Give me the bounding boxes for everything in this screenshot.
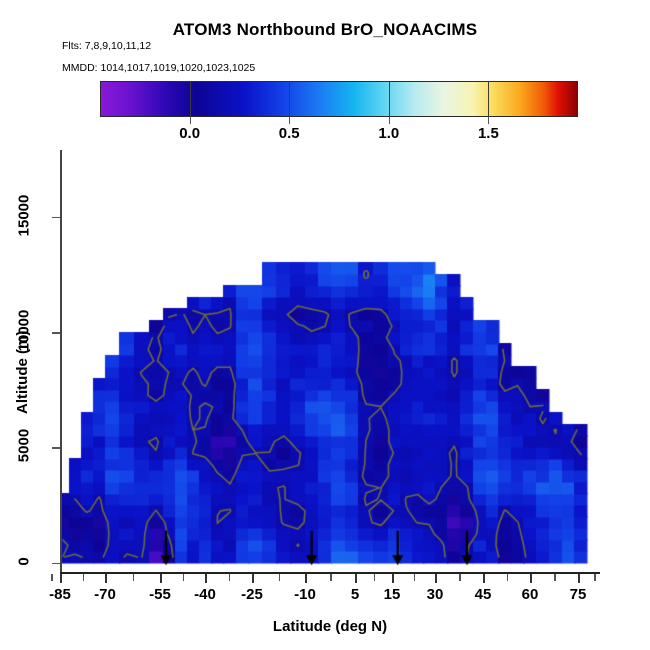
colorbar-tick [389, 117, 390, 124]
x-axis-tick-label: 30 [427, 586, 444, 603]
y-axis-tick-label: 15000 [16, 189, 33, 241]
x-axis-minor-tick [374, 574, 376, 581]
mmdd-subtitle: MMDD: 1014,1017,1019,1020,1023,1025 [62, 62, 255, 74]
y-axis-tick [52, 217, 60, 219]
x-axis-minor-tick [229, 574, 231, 581]
colorbar[interactable]: 0.00.51.01.5 [100, 81, 578, 117]
x-axis-minor-tick [554, 574, 556, 581]
x-axis-tick [530, 574, 532, 583]
x-axis-tick [355, 574, 357, 583]
figure-root: ATOM3 Northbound BrO_NOAACIMS Flts: 7,8,… [0, 0, 650, 650]
x-axis-tick-label: -70 [94, 586, 116, 603]
plot-axes: Latitude (deg N) -85-70-55-40-25-1051530… [60, 150, 600, 574]
y-axis-tick [52, 447, 60, 449]
x-axis-tick [160, 574, 162, 583]
page-title: ATOM3 Northbound BrO_NOAACIMS [0, 20, 650, 40]
x-axis-minor-tick [414, 574, 416, 581]
x-axis-tick [483, 574, 485, 583]
colorbar-tick [190, 117, 191, 124]
x-axis-tick-label: 75 [570, 586, 587, 603]
x-axis-label: Latitude (deg N) [60, 618, 600, 635]
y-axis-spine [60, 150, 62, 574]
x-axis-minor-tick [133, 574, 135, 581]
x-axis-minor-tick [330, 574, 332, 581]
y-axis-tick [52, 332, 60, 334]
x-axis-tick [205, 574, 207, 583]
y-axis-label: Altitude (m) [14, 331, 31, 414]
x-axis-tick [305, 574, 307, 583]
flights-subtitle: Flts: 7,8,9,10,11,12 [62, 40, 151, 52]
colorbar-tick [289, 117, 290, 124]
x-axis-minor-tick [459, 574, 461, 581]
colorbar-tick-label: 1.5 [478, 125, 499, 142]
colorbar-divider [190, 81, 191, 117]
colorbar-tick-label: 0.0 [179, 125, 200, 142]
x-axis-tick [578, 574, 580, 583]
heatmap-canvas[interactable] [60, 150, 600, 574]
x-axis-minor-tick [83, 574, 85, 581]
y-axis-tick [52, 563, 60, 565]
colorbar-gradient [100, 81, 578, 117]
x-axis-tick [435, 574, 437, 583]
x-axis-tick-label: 60 [522, 586, 539, 603]
y-axis-tick-label: 0 [16, 535, 33, 587]
x-axis-minor-tick [183, 574, 185, 581]
colorbar-tick [488, 117, 489, 124]
x-axis-minor-tick [51, 574, 53, 581]
x-axis-tick-label: -25 [241, 586, 263, 603]
x-axis-tick-label: -85 [49, 586, 71, 603]
x-axis-minor-tick [279, 574, 281, 581]
y-axis-tick-label: 5000 [16, 420, 33, 472]
x-axis-tick [392, 574, 394, 583]
x-axis-minor-tick [507, 574, 509, 581]
x-axis-tick-label: 5 [351, 586, 359, 603]
x-axis-tick-label: -40 [194, 586, 216, 603]
colorbar-tick-label: 0.5 [279, 125, 300, 142]
colorbar-divider [289, 81, 290, 117]
x-axis-tick [60, 574, 62, 583]
x-axis-tick [105, 574, 107, 583]
colorbar-tick-label: 1.0 [378, 125, 399, 142]
x-axis-tick-label: -10 [294, 586, 316, 603]
x-axis-tick [252, 574, 254, 583]
x-axis-tick-label: 45 [475, 586, 492, 603]
colorbar-divider [389, 81, 390, 117]
x-axis-tick-label: 15 [384, 586, 401, 603]
x-axis-tick-label: -55 [149, 586, 171, 603]
x-axis-minor-tick [594, 574, 596, 581]
colorbar-divider [488, 81, 489, 117]
